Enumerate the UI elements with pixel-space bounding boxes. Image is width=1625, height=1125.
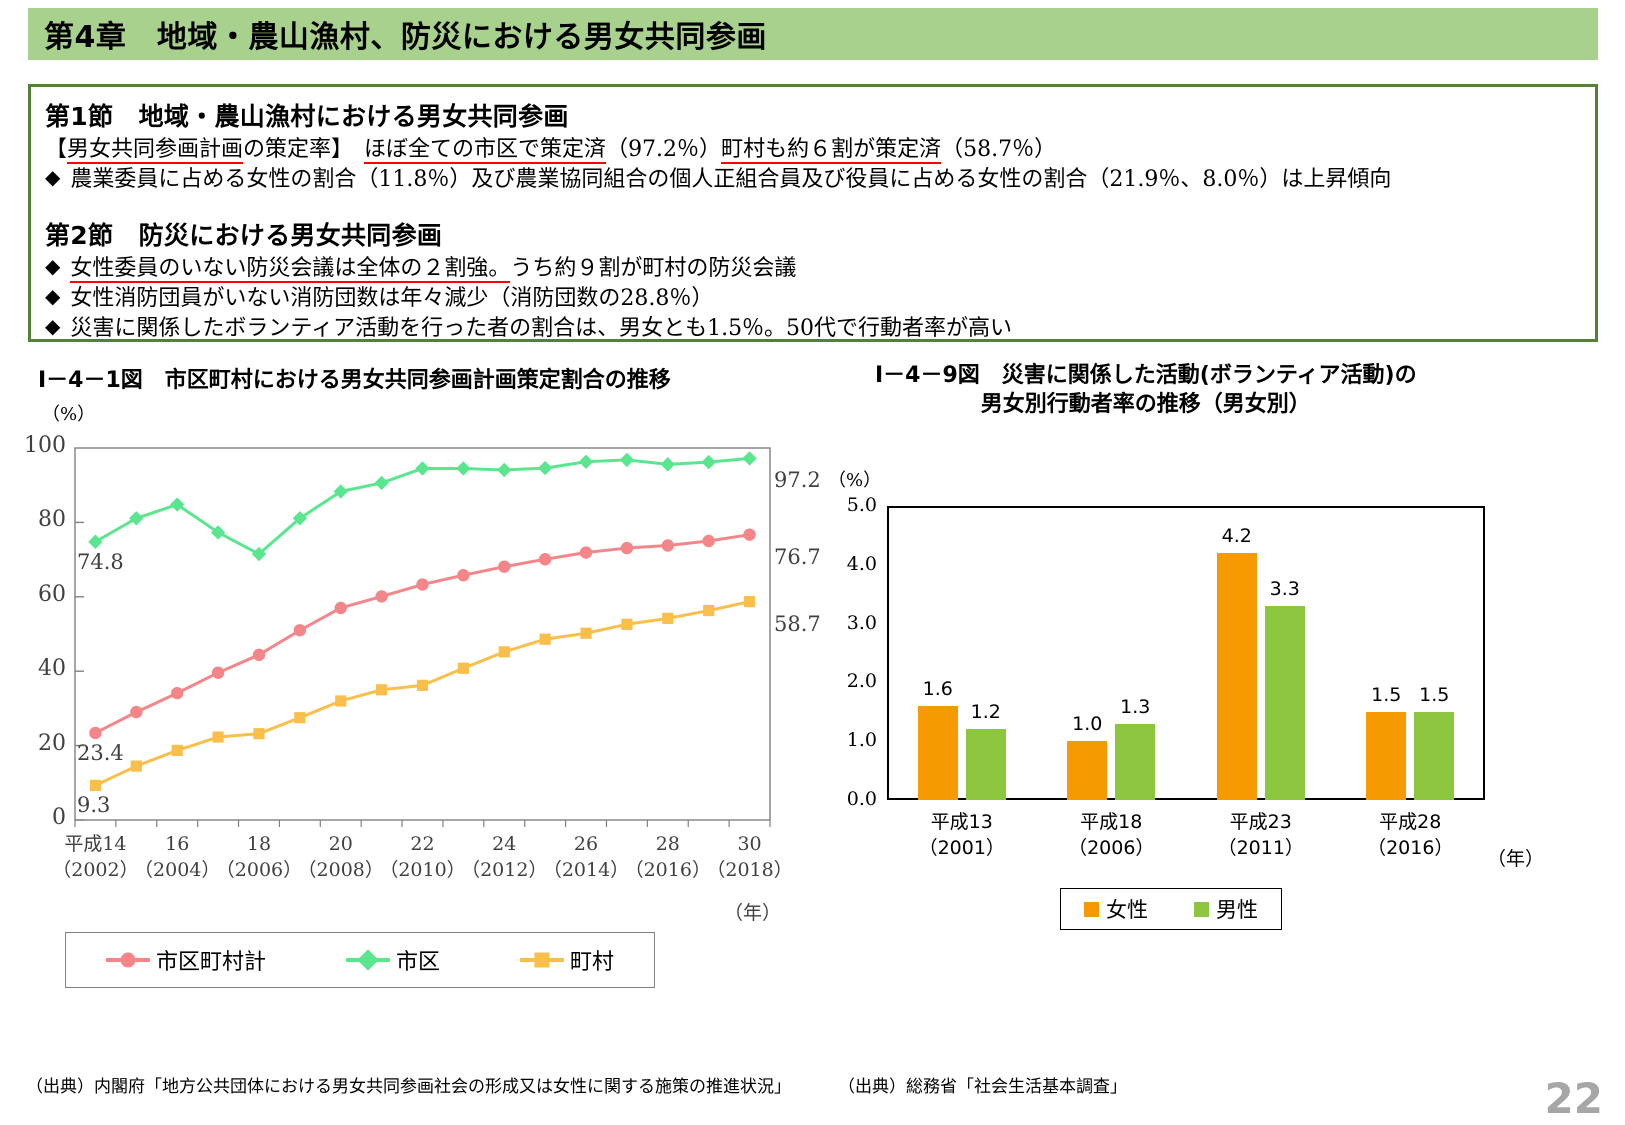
data-point-市区町村計 <box>662 539 674 551</box>
bar-男性-平成13 <box>966 729 1006 800</box>
chapter-banner: 第4章 地域・農山漁村、防災における男女共同参画 <box>28 8 1598 60</box>
plain-phrase: 災害に関係したボランティア活動を行った者の割合は、男女とも1.5％。50代で行動… <box>70 316 1012 341</box>
summary-text: 女性消防団員がいない消防団数は年々減少（消防団数の28.8％） <box>70 284 713 314</box>
data-point-市区 <box>88 535 102 549</box>
figure2-title-line1: Ⅰ－4－9図 災害に関係した活動(ボランティア活動)の <box>875 362 1417 391</box>
x-axis-unit: （年） <box>724 898 781 925</box>
diamond-bullet-icon: ◆ <box>45 254 60 282</box>
legend-marker-circle <box>120 953 135 968</box>
line-chart: 020406080100平成14（2002）16（2004）18（2006）20… <box>10 430 800 960</box>
figure1-unit: （%） <box>42 400 95 426</box>
highlighted-phrase: 男女共同参画計画 <box>67 137 243 164</box>
data-point-市区町村計 <box>702 535 714 547</box>
data-point-市区町村計 <box>253 649 265 661</box>
value-annotation: 74.8 <box>77 550 124 574</box>
legend-label: 町村 <box>570 944 614 976</box>
data-point-市区町村計 <box>457 569 469 581</box>
bar-value-label: 4.2 <box>1209 525 1265 547</box>
section2-lines: ◆女性委員のいない防災会議は全体の２割強。うち約９割が町村の防災会議◆女性消防団… <box>45 254 1581 345</box>
data-point-町村 <box>131 760 142 771</box>
y-axis-label: 60 <box>10 582 66 607</box>
bar-女性-平成18 <box>1067 741 1107 800</box>
x-label-era: 30 <box>702 832 798 858</box>
bar-男性-平成18 <box>1115 724 1155 800</box>
summary-text: 【男女共同参画計画の策定率】 ほぼ全ての市区で策定済（97.2％）町村も約６割が… <box>45 135 1056 165</box>
data-point-市区 <box>620 453 634 467</box>
legend-marker-square <box>534 953 549 968</box>
bar-value-label: 1.6 <box>910 678 966 700</box>
bar-x-label-era: 平成23 <box>1196 810 1326 836</box>
bar-x-label-era: 平成13 <box>897 810 1027 836</box>
bar-y-axis-label: 5.0 <box>831 494 877 516</box>
legend-item-市区[interactable]: 市区 <box>346 944 440 976</box>
y-axis-label: 100 <box>10 433 66 458</box>
summary-text: 災害に関係したボランティア活動を行った者の割合は、男女とも1.5％。50代で行動… <box>70 314 1012 344</box>
bar-女性-平成28 <box>1366 712 1406 800</box>
bar-value-label: 3.3 <box>1257 578 1313 600</box>
data-point-市区町村計 <box>212 666 224 678</box>
data-point-市区町村計 <box>621 542 633 554</box>
data-point-市区 <box>538 461 552 475</box>
bar-x-axis-label: 平成13（2001） <box>897 810 1027 861</box>
plain-phrase: （97.2％） <box>606 137 721 162</box>
bar-x-label-ad: （2001） <box>897 836 1027 862</box>
data-point-町村 <box>662 613 673 624</box>
data-point-市区 <box>374 476 388 490</box>
diamond-bullet-icon: ◆ <box>45 165 60 193</box>
plain-phrase: うち約９割が町村の防災会議 <box>510 256 796 281</box>
bar-x-axis-label: 平成18（2006） <box>1046 810 1176 861</box>
legend-label: 市区町村計 <box>156 944 266 976</box>
data-point-町村 <box>335 695 346 706</box>
summary-line: ◆農業委員に占める女性の割合（11.8％）及び農業協同組合の個人正組合員及び役員… <box>45 165 1581 195</box>
data-point-市区町村計 <box>294 624 306 636</box>
data-point-市区 <box>742 451 756 465</box>
plain-phrase: 【 <box>45 137 67 162</box>
bar-legend-label: 男性 <box>1216 894 1258 924</box>
data-point-町村 <box>90 780 101 791</box>
legend-line-swatch <box>106 958 150 962</box>
bar-value-label: 1.2 <box>958 701 1014 723</box>
data-point-市区 <box>497 463 511 477</box>
plain-phrase: 女性消防団員がいない消防団数は年々減少（消防団数の28.8％） <box>70 286 713 311</box>
bar-女性-平成23 <box>1217 553 1257 800</box>
plain-phrase: （58.7％） <box>941 137 1056 162</box>
data-point-市区 <box>456 461 470 475</box>
summary-text: 女性委員のいない防災会議は全体の２割強。うち約９割が町村の防災会議 <box>70 254 796 284</box>
highlighted-phrase: 女性委員のいない防災会議は全体の２割強。 <box>70 256 510 283</box>
value-annotation: 76.7 <box>774 545 821 569</box>
bar-value-label: 1.5 <box>1406 684 1462 706</box>
data-point-市区町村計 <box>539 553 551 565</box>
data-point-町村 <box>253 728 264 739</box>
y-axis-label: 20 <box>10 731 66 756</box>
data-point-町村 <box>376 684 387 695</box>
bar-chart: 0.01.02.03.04.05.01.61.2平成13（2001）1.01.3… <box>815 460 1515 920</box>
data-point-町村 <box>417 680 428 691</box>
series-line-市区町村計 <box>95 535 749 733</box>
summary-line: ◆女性消防団員がいない消防団数は年々減少（消防団数の28.8％） <box>45 284 1581 314</box>
bar-legend-swatch <box>1194 902 1209 917</box>
data-point-市区町村計 <box>171 687 183 699</box>
x-axis-label: 30（2018） <box>702 832 798 883</box>
data-point-町村 <box>172 745 183 756</box>
bar-x-axis-unit: （年） <box>1487 844 1544 871</box>
data-point-市区 <box>579 455 593 469</box>
page-root: 第4章 地域・農山漁村、防災における男女共同参画 第1節 地域・農山漁村における… <box>0 0 1625 1125</box>
data-point-市区 <box>661 457 675 471</box>
data-point-市区 <box>701 455 715 469</box>
series-line-町村 <box>95 602 749 786</box>
bar-女性-平成13 <box>918 706 958 800</box>
legend-line-swatch <box>520 958 564 962</box>
data-point-市区町村計 <box>375 590 387 602</box>
data-point-市区町村計 <box>743 528 755 540</box>
value-annotation: 9.3 <box>77 793 110 817</box>
data-point-町村 <box>703 605 714 616</box>
bar-男性-平成23 <box>1265 606 1305 800</box>
y-axis-label: 80 <box>10 507 66 532</box>
bar-x-label-ad: （2006） <box>1046 836 1176 862</box>
summary-line: ◆女性委員のいない防災会議は全体の２割強。うち約９割が町村の防災会議 <box>45 254 1581 284</box>
bar-y-axis-label: 0.0 <box>831 788 877 810</box>
value-annotation: 23.4 <box>77 741 124 765</box>
data-point-町村 <box>458 663 469 674</box>
bar-value-label: 1.3 <box>1107 696 1163 718</box>
data-point-市区 <box>415 461 429 475</box>
bar-legend-swatch <box>1084 902 1099 917</box>
bar-x-label-era: 平成18 <box>1046 810 1176 836</box>
data-point-市区町村計 <box>580 546 592 558</box>
highlighted-phrase: ほぼ全ての市区で策定済 <box>364 137 606 164</box>
line-chart-legend: 市区町村計市区町村 <box>65 932 655 988</box>
bar-x-label-ad: （2016） <box>1345 836 1475 862</box>
value-annotation: 58.7 <box>774 612 821 636</box>
data-point-町村 <box>580 628 591 639</box>
source-right: （出典）総務省「社会生活基本調査」 <box>838 1072 1127 1097</box>
value-annotation: 97.2 <box>774 468 821 492</box>
data-point-市区町村計 <box>130 706 142 718</box>
legend-marker-diamond <box>357 949 378 970</box>
bar-y-axis-label: 1.0 <box>831 729 877 751</box>
section2-heading: 第2節 防災における男女共同参画 <box>45 216 1581 252</box>
bar-legend-item-男性[interactable]: 男性 <box>1194 894 1258 924</box>
diamond-bullet-icon: ◆ <box>45 284 60 312</box>
data-point-市区町村計 <box>89 727 101 739</box>
bar-x-axis-label: 平成23（2011） <box>1196 810 1326 861</box>
y-axis-label: 0 <box>10 805 66 830</box>
bar-y-axis-label: 3.0 <box>831 612 877 634</box>
bar-legend-label: 女性 <box>1106 894 1148 924</box>
data-point-町村 <box>744 596 755 607</box>
plain-phrase: 農業委員に占める女性の割合（11.8％）及び農業協同組合の個人正組合員及び役員に… <box>70 167 1391 192</box>
summary-line: ◆災害に関係したボランティア活動を行った者の割合は、男女とも1.5％。50代で行… <box>45 314 1581 344</box>
bar-x-axis-label: 平成28（2016） <box>1345 810 1475 861</box>
source-left: （出典）内閣府「地方公共団体における男女共同参画社会の形成又は女性に関する施策の… <box>26 1072 791 1097</box>
bar-x-label-era: 平成28 <box>1345 810 1475 836</box>
diamond-bullet-icon: ◆ <box>45 314 60 342</box>
figure2-title: Ⅰ－4－9図 災害に関係した活動(ボランティア活動)の 男女別行動者率の推移（男… <box>875 362 1417 419</box>
bar-男性-平成28 <box>1414 712 1454 800</box>
data-point-市区町村計 <box>335 602 347 614</box>
bar-y-axis-label: 2.0 <box>831 670 877 692</box>
legend-item-市区町村計[interactable]: 市区町村計 <box>106 944 266 976</box>
data-point-町村 <box>294 712 305 723</box>
bar-x-label-ad: （2011） <box>1196 836 1326 862</box>
data-point-町村 <box>621 619 632 630</box>
figure1-title: Ⅰ－4－1図 市区町村における男女共同参画計画策定割合の推移 <box>38 362 671 394</box>
section1-lines: 【男女共同参画計画の策定率】 ほぼ全ての市区で策定済（97.2％）町村も約６割が… <box>45 135 1581 196</box>
data-point-町村 <box>499 646 510 657</box>
summary-text: 農業委員に占める女性の割合（11.8％）及び農業協同組合の個人正組合員及び役員に… <box>70 165 1391 195</box>
figure2-title-line2: 男女別行動者率の推移（男女別） <box>875 391 1417 420</box>
bar-chart-legend: 女性男性 <box>1060 888 1282 930</box>
page-number: 22 <box>1545 1074 1603 1123</box>
data-point-市区 <box>129 511 143 525</box>
legend-line-swatch <box>346 958 390 962</box>
data-point-市区町村計 <box>416 578 428 590</box>
summary-box: 第1節 地域・農山漁村における男女共同参画 【男女共同参画計画の策定率】 ほぼ全… <box>28 84 1598 342</box>
summary-line: 【男女共同参画計画の策定率】 ほぼ全ての市区で策定済（97.2％）町村も約６割が… <box>45 135 1581 165</box>
bar-legend-item-女性[interactable]: 女性 <box>1084 894 1148 924</box>
chapter-title: 第4章 地域・農山漁村、防災における男女共同参画 <box>28 12 767 56</box>
legend-item-町村[interactable]: 町村 <box>520 944 614 976</box>
section1-heading: 第1節 地域・農山漁村における男女共同参画 <box>45 97 1581 133</box>
plain-phrase: の策定率】 <box>243 137 364 162</box>
bar-y-axis-label: 4.0 <box>831 553 877 575</box>
highlighted-phrase: 町村も約６割が策定済 <box>721 137 941 164</box>
data-point-町村 <box>540 634 551 645</box>
data-point-市区町村計 <box>498 560 510 572</box>
data-point-町村 <box>212 731 223 742</box>
legend-label: 市区 <box>396 944 440 976</box>
y-axis-label: 40 <box>10 656 66 681</box>
x-label-ad: （2018） <box>702 858 798 884</box>
